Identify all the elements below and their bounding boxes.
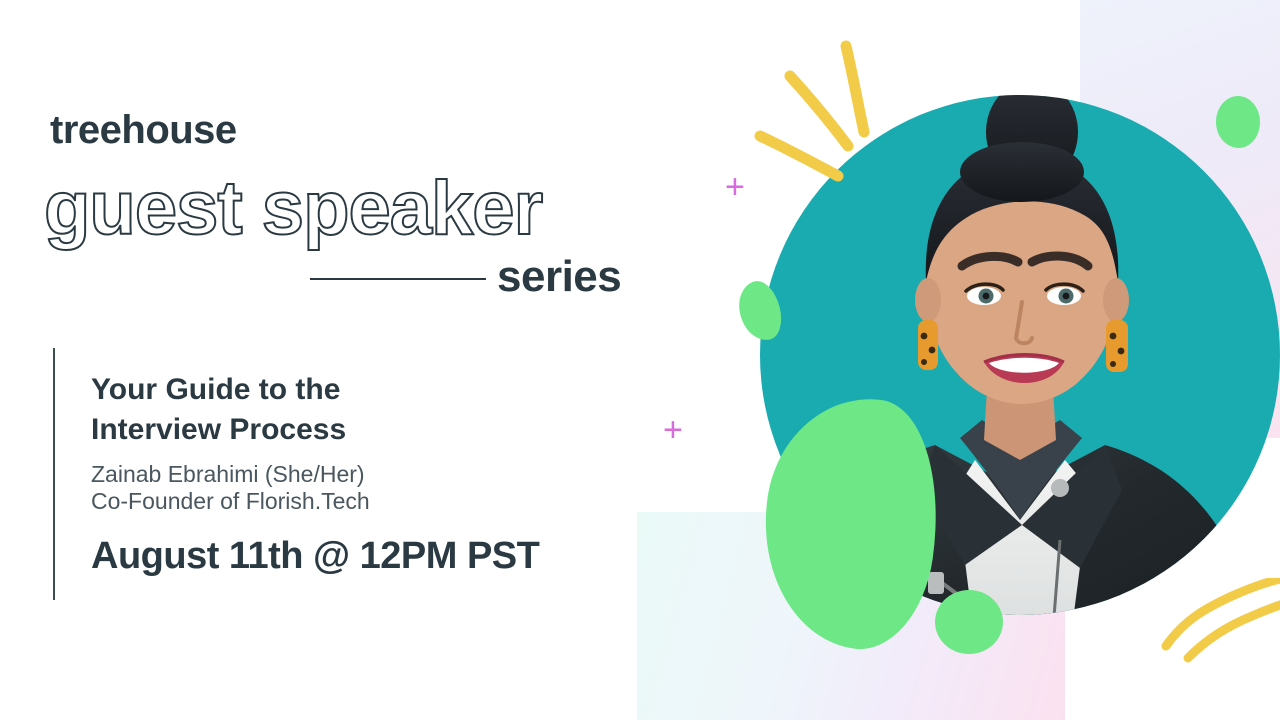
talk-title-line-2: Interview Process (91, 413, 346, 446)
brand-wordmark: treehouse (50, 108, 237, 153)
green-blob-small (733, 277, 786, 345)
talk-title: Your Guide to the Interview Process (91, 370, 511, 449)
teal-circle-backdrop (760, 95, 1280, 615)
vertical-accent-bar (53, 348, 55, 600)
plus-mark-icon-middle: + (663, 413, 683, 447)
promo-slide: + + treehouse guest speaker series Your … (0, 0, 1280, 720)
speaker-role: Co-Founder of Florish.Tech (91, 488, 370, 515)
plus-mark-icon-top: + (725, 170, 745, 204)
talk-title-line-1: Your Guide to the (91, 373, 340, 406)
green-blob-large (748, 386, 953, 658)
green-blob-top-right (1216, 96, 1260, 148)
green-blob-round (935, 590, 1003, 654)
gradient-panel-top-right (1080, 0, 1280, 438)
event-datetime: August 11th @ 12PM PST (91, 535, 539, 578)
content-column: treehouse guest speaker series Your Guid… (0, 0, 660, 720)
speaker-name: Zainab Ebrahimi (She/Her) (91, 461, 365, 488)
page-title: guest speaker (44, 165, 542, 252)
speaker-portrait (760, 20, 1280, 720)
series-label: series (497, 252, 621, 302)
gradient-panel-bottom (637, 512, 1065, 720)
yellow-burst-icon (748, 28, 938, 218)
yellow-squiggle-icon (1158, 578, 1280, 720)
series-divider-rule (310, 278, 486, 280)
